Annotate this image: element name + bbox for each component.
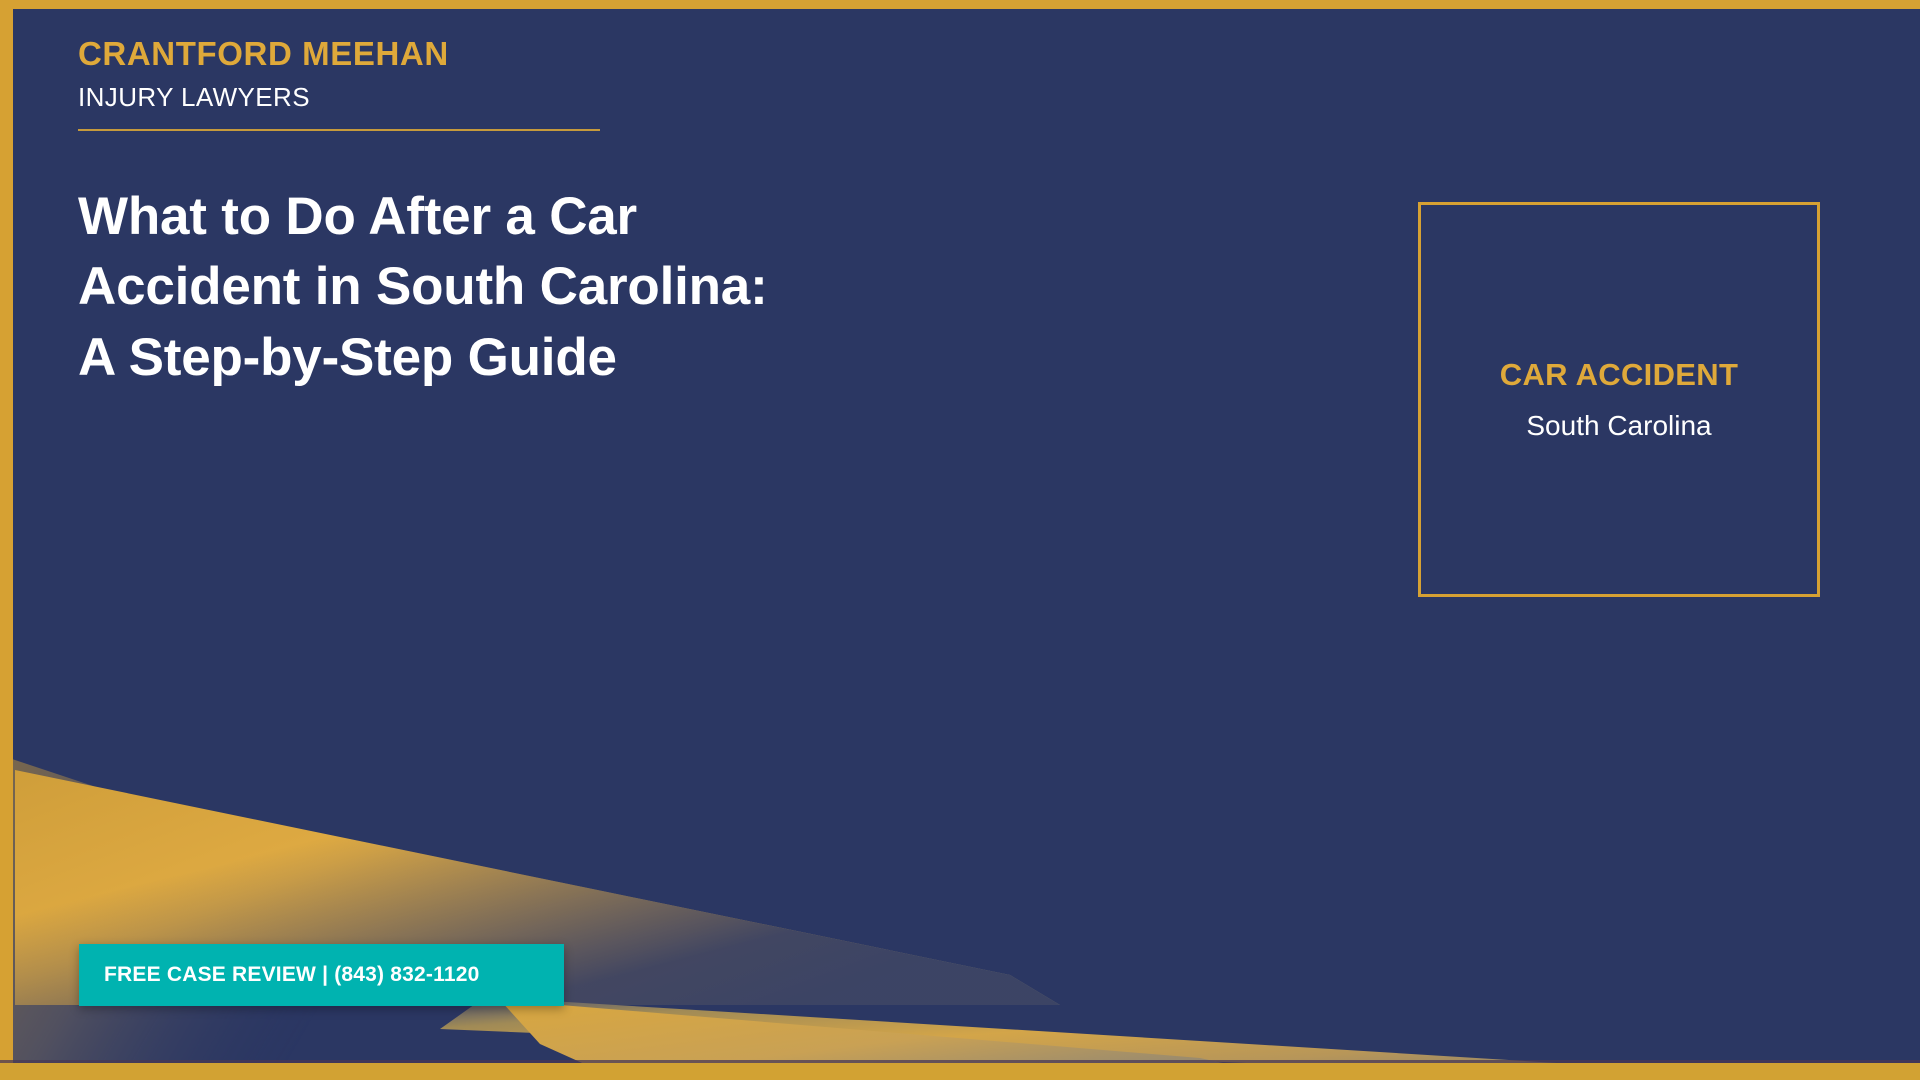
frame-border-bottom	[0, 1063, 1920, 1080]
frame-border-left	[0, 0, 13, 1080]
page-title-line-1: What to Do After a Car	[78, 182, 978, 252]
brand-divider-rule	[78, 129, 600, 131]
slide-canvas: CRANTFORD MEEHAN INJURY LAWYERS What to …	[0, 0, 1920, 1080]
category-card-title: CAR ACCIDENT	[1500, 357, 1738, 393]
category-card-subtitle: South Carolina	[1526, 410, 1711, 442]
free-case-review-label: FREE CASE REVIEW | (843) 832-1120	[104, 963, 479, 987]
frame-border-top	[0, 0, 1920, 9]
page-title: What to Do After a Car Accident in South…	[78, 182, 978, 393]
category-card: CAR ACCIDENT South Carolina	[1418, 202, 1820, 597]
brand-tagline: INJURY LAWYERS	[78, 83, 600, 112]
page-title-line-2: Accident in South Carolina:	[78, 252, 978, 322]
brand-name: CRANTFORD MEEHAN	[78, 36, 600, 72]
gold-triangle-decoration	[0, 760, 1060, 1080]
page-title-line-3: A Step-by-Step Guide	[78, 323, 978, 393]
gold-feather-decoration	[0, 755, 360, 1080]
free-case-review-button[interactable]: FREE CASE REVIEW | (843) 832-1120	[79, 944, 564, 1006]
brand-lockup: CRANTFORD MEEHAN INJURY LAWYERS	[78, 36, 600, 131]
